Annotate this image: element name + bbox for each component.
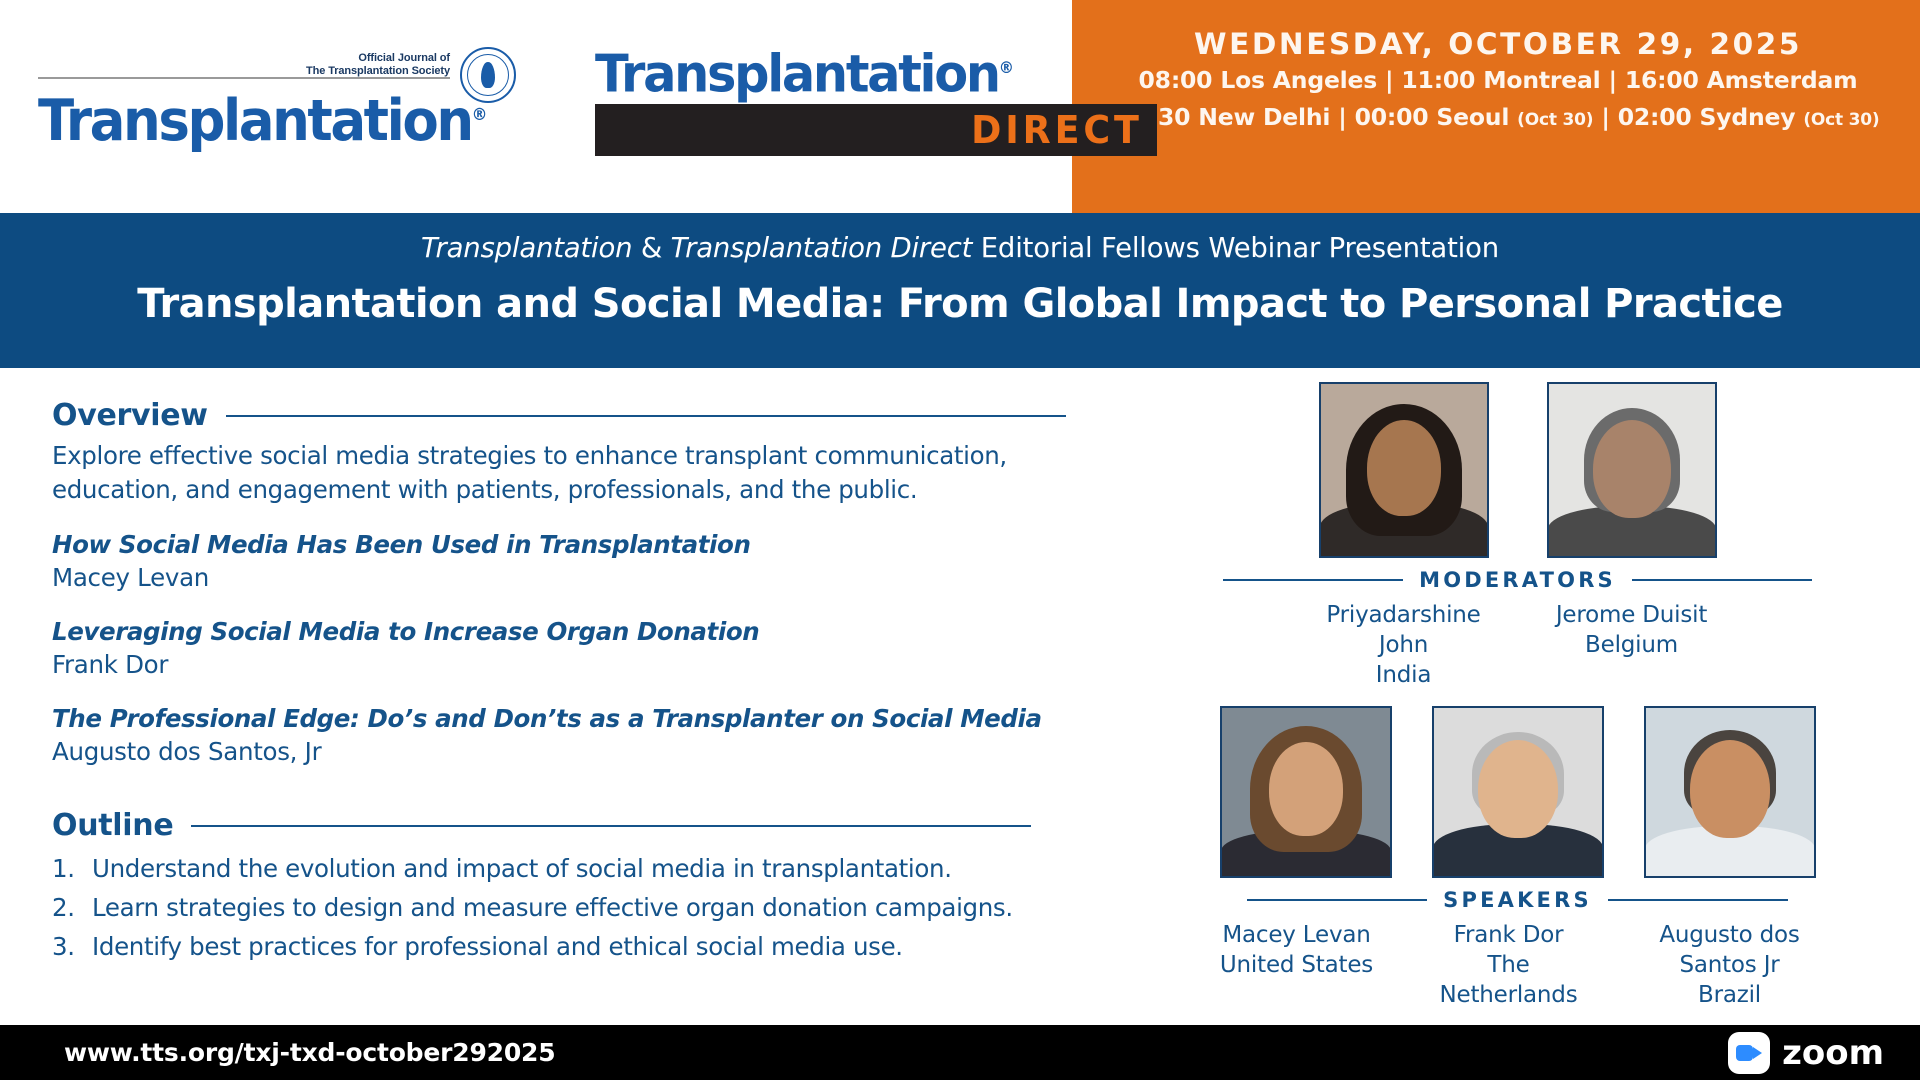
footer: www.tts.org/txj-txd-october292025 zoom	[0, 1025, 1920, 1080]
talk-item: How Social Media Has Been Used in Transp…	[52, 529, 1115, 594]
avatar	[1432, 706, 1604, 878]
person-country: United States	[1211, 950, 1383, 980]
divider-rule-left	[1223, 579, 1403, 581]
avatar	[1319, 382, 1489, 558]
webinar-subtitle: Transplantation & Transplantation Direct…	[40, 231, 1880, 265]
title-band: Transplantation & Transplantation Direct…	[0, 213, 1920, 368]
talk-title: Leveraging Social Media to Increase Orga…	[52, 616, 1115, 648]
talk-title: The Professional Edge: Do’s and Don’ts a…	[52, 703, 1115, 735]
divider-rule-left	[1247, 899, 1427, 901]
moderators-divider: MODERATORS	[1115, 568, 1920, 592]
outline-number: 3.	[52, 927, 92, 966]
person-country: India	[1319, 660, 1489, 690]
speakers-photo-row	[1115, 706, 1920, 878]
speaker-card	[1644, 706, 1816, 878]
transplantation-direct-wordmark: Transplantation®	[595, 40, 1042, 102]
moderators-label: MODERATORS	[1419, 568, 1616, 592]
event-date: WEDNESDAY, OCTOBER 29, 2025	[1096, 26, 1900, 62]
timezones-line-2: 20:30 New Delhi | 00:00 Seoul (Oct 30) |…	[1096, 99, 1900, 139]
timezone-sydney: | 02:00 Sydney	[1593, 103, 1803, 131]
talk-title: How Social Media Has Been Used in Transp…	[52, 529, 1115, 561]
overview-heading-rule	[226, 415, 1066, 417]
body-area: Overview Explore effective social media …	[0, 368, 1920, 1025]
list-item: 3. Identify best practices for professio…	[52, 927, 1115, 966]
head-shape	[1269, 742, 1343, 836]
head-shape	[1367, 420, 1441, 516]
timezone-new-delhi-seoul: 20:30 New Delhi | 00:00 Seoul	[1117, 103, 1518, 131]
list-item: 1. Understand the evolution and impact o…	[52, 849, 1115, 888]
person-country: Brazil	[1635, 980, 1825, 1010]
person-country: Belgium	[1547, 630, 1717, 660]
registered-mark-icon-2: ®	[999, 58, 1012, 77]
outline-text: Understand the evolution and impact of s…	[92, 849, 952, 888]
journal-logos: Official Journal of The Transplantation …	[0, 0, 1072, 213]
list-item: 2. Learn strategies to design and measur…	[52, 888, 1115, 927]
overview-heading: Overview	[52, 398, 208, 433]
video-camera-icon	[1728, 1032, 1770, 1074]
overview-description: Explore effective social media strategie…	[52, 439, 1092, 507]
outline-heading-rule	[191, 825, 1031, 827]
sydney-date-note: (Oct 30)	[1803, 110, 1879, 130]
outline-number: 2.	[52, 888, 92, 927]
outline-text: Learn strategies to design and measure e…	[92, 888, 1013, 927]
speaker-card	[1220, 706, 1392, 878]
avatar	[1547, 382, 1717, 558]
moderator-card	[1319, 382, 1489, 558]
outline-list: 1. Understand the evolution and impact o…	[52, 849, 1115, 966]
transplantation-wordmark-text: Transplantation	[38, 88, 472, 154]
subtitle-conjunction: &	[632, 232, 670, 264]
person-name: Priyadarshine John	[1319, 600, 1489, 660]
speakers-label: SPEAKERS	[1443, 888, 1592, 912]
speaker-name-block: Macey Levan United States	[1211, 912, 1383, 980]
head-shape	[1690, 740, 1770, 838]
direct-label: DIRECT	[971, 108, 1143, 152]
page-title: Transplantation and Social Media: From G…	[40, 279, 1880, 329]
talk-speaker: Macey Levan	[52, 561, 1115, 594]
avatar	[1644, 706, 1816, 878]
outline-heading: Outline	[52, 808, 173, 843]
subtitle-tail: Editorial Fellows Webinar Presentation	[972, 232, 1499, 264]
overview-section-header: Overview	[52, 398, 1115, 433]
subtitle-journal-2: Transplantation Direct	[671, 232, 973, 264]
outline-number: 1.	[52, 849, 92, 888]
direct-black-bar: DIRECT	[595, 104, 1157, 156]
person-name: Macey Levan	[1211, 920, 1383, 950]
moderator-card	[1547, 382, 1717, 558]
program-column: Overview Explore effective social media …	[0, 368, 1115, 1025]
person-country: The Netherlands	[1423, 950, 1595, 1010]
date-and-timezones-panel: WEDNESDAY, OCTOBER 29, 2025 08:00 Los An…	[1072, 0, 1920, 213]
speaker-name-block: Augusto dos Santos Jr Brazil	[1635, 912, 1825, 1010]
header: Official Journal of The Transplantation …	[0, 0, 1920, 213]
outline-text: Identify best practices for professional…	[92, 927, 903, 966]
registered-mark-icon: ®	[472, 105, 485, 125]
head-shape	[1478, 740, 1558, 838]
official-journal-line-2: The Transplantation Society	[306, 65, 450, 78]
talk-speaker: Frank Dor	[52, 648, 1115, 681]
zoom-logo: zoom	[1728, 1032, 1884, 1074]
seoul-date-note: (Oct 30)	[1517, 110, 1593, 130]
registration-url[interactable]: www.tts.org/txj-txd-october292025	[64, 1038, 555, 1067]
head-shape	[1593, 420, 1671, 518]
speaker-name-block: Frank Dor The Netherlands	[1423, 912, 1595, 1010]
moderators-names-row: Priyadarshine John India Jerome Duisit B…	[1115, 592, 1920, 690]
transplantation-direct-wordmark-text: Transplantation	[595, 44, 999, 104]
talk-item: The Professional Edge: Do’s and Don’ts a…	[52, 703, 1115, 768]
people-column: MODERATORS Priyadarshine John India Jero…	[1115, 368, 1920, 1025]
transplantation-direct-logo: Transplantation® DIRECT	[595, 40, 1065, 156]
speakers-names-row: Macey Levan United States Frank Dor The …	[1115, 912, 1920, 1010]
moderator-name-block: Jerome Duisit Belgium	[1547, 592, 1717, 660]
divider-rule-right	[1608, 899, 1788, 901]
avatar	[1220, 706, 1392, 878]
person-name: Augusto dos Santos Jr	[1635, 920, 1825, 980]
moderators-photo-row	[1115, 382, 1920, 558]
moderator-name-block: Priyadarshine John India	[1319, 592, 1489, 690]
speaker-card	[1432, 706, 1604, 878]
outline-section-header: Outline	[52, 808, 1115, 843]
subtitle-journal-1: Transplantation	[421, 232, 632, 264]
talk-speaker: Augusto dos Santos, Jr	[52, 735, 1115, 768]
official-journal-line-1: Official Journal of	[306, 52, 450, 65]
talk-item: Leveraging Social Media to Increase Orga…	[52, 616, 1115, 681]
webinar-announcement-poster: Official Journal of The Transplantation …	[0, 0, 1920, 1080]
speakers-divider: SPEAKERS	[1115, 888, 1920, 912]
divider-rule-right	[1632, 579, 1812, 581]
person-name: Frank Dor	[1423, 920, 1595, 950]
transplantation-wordmark: Transplantation®	[38, 85, 485, 151]
official-journal-caption: Official Journal of The Transplantation …	[306, 52, 450, 78]
timezones-line-1: 08:00 Los Angeles | 11:00 Montreal | 16:…	[1096, 62, 1900, 99]
zoom-wordmark: zoom	[1782, 1033, 1884, 1073]
person-name: Jerome Duisit	[1547, 600, 1717, 630]
